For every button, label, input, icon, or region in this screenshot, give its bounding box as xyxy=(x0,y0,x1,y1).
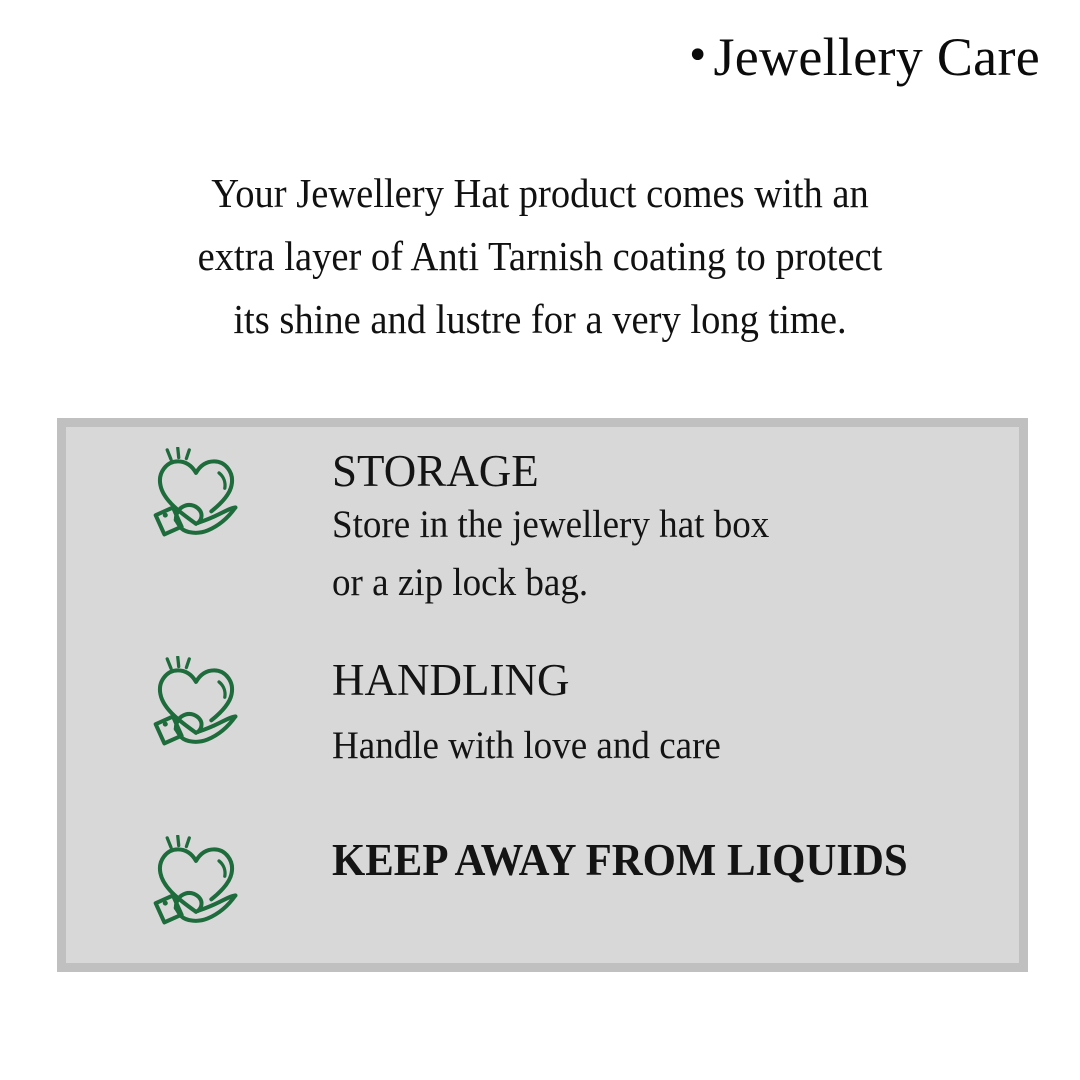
care-item-text: STORAGE Store in the jewellery hat box o… xyxy=(332,447,1052,612)
page-title: • Jewellery Care xyxy=(0,30,1040,84)
page-title-text: Jewellery Care xyxy=(713,27,1040,87)
intro-line-1: Your Jewellery Hat product comes with an xyxy=(108,162,973,225)
heart-in-hand-icon xyxy=(148,447,244,543)
care-item-body-line-1: Handle with love and care xyxy=(332,717,1016,775)
care-item-title: STORAGE xyxy=(332,447,1052,496)
intro-line-3: its shine and lustre for a very long tim… xyxy=(108,288,973,351)
care-item-title: HANDLING xyxy=(332,656,1052,705)
care-item-text: KEEP AWAY FROM LIQUIDS xyxy=(332,835,1052,885)
care-item-body-line-2: or a zip lock bag. xyxy=(332,554,1016,612)
intro-line-2: extra layer of Anti Tarnish coating to p… xyxy=(108,225,973,288)
care-item-body-line-1: Store in the jewellery hat box xyxy=(332,496,1016,554)
care-instructions-panel: STORAGE Store in the jewellery hat box o… xyxy=(57,418,1028,972)
jewellery-care-card: • Jewellery Care Your Jewellery Hat prod… xyxy=(0,0,1080,1080)
care-item-body: Store in the jewellery hat box or a zip … xyxy=(332,496,1016,612)
heart-in-hand-icon xyxy=(148,656,244,752)
intro-paragraph: Your Jewellery Hat product comes with an… xyxy=(108,162,973,351)
care-item-text: HANDLING Handle with love and care xyxy=(332,656,1052,775)
care-item-body: Handle with love and care xyxy=(332,717,1016,775)
care-list: STORAGE Store in the jewellery hat box o… xyxy=(66,427,1019,963)
heart-in-hand-icon xyxy=(148,835,244,931)
care-item-title: KEEP AWAY FROM LIQUIDS xyxy=(332,835,1002,885)
bullet-icon: • xyxy=(686,33,710,79)
